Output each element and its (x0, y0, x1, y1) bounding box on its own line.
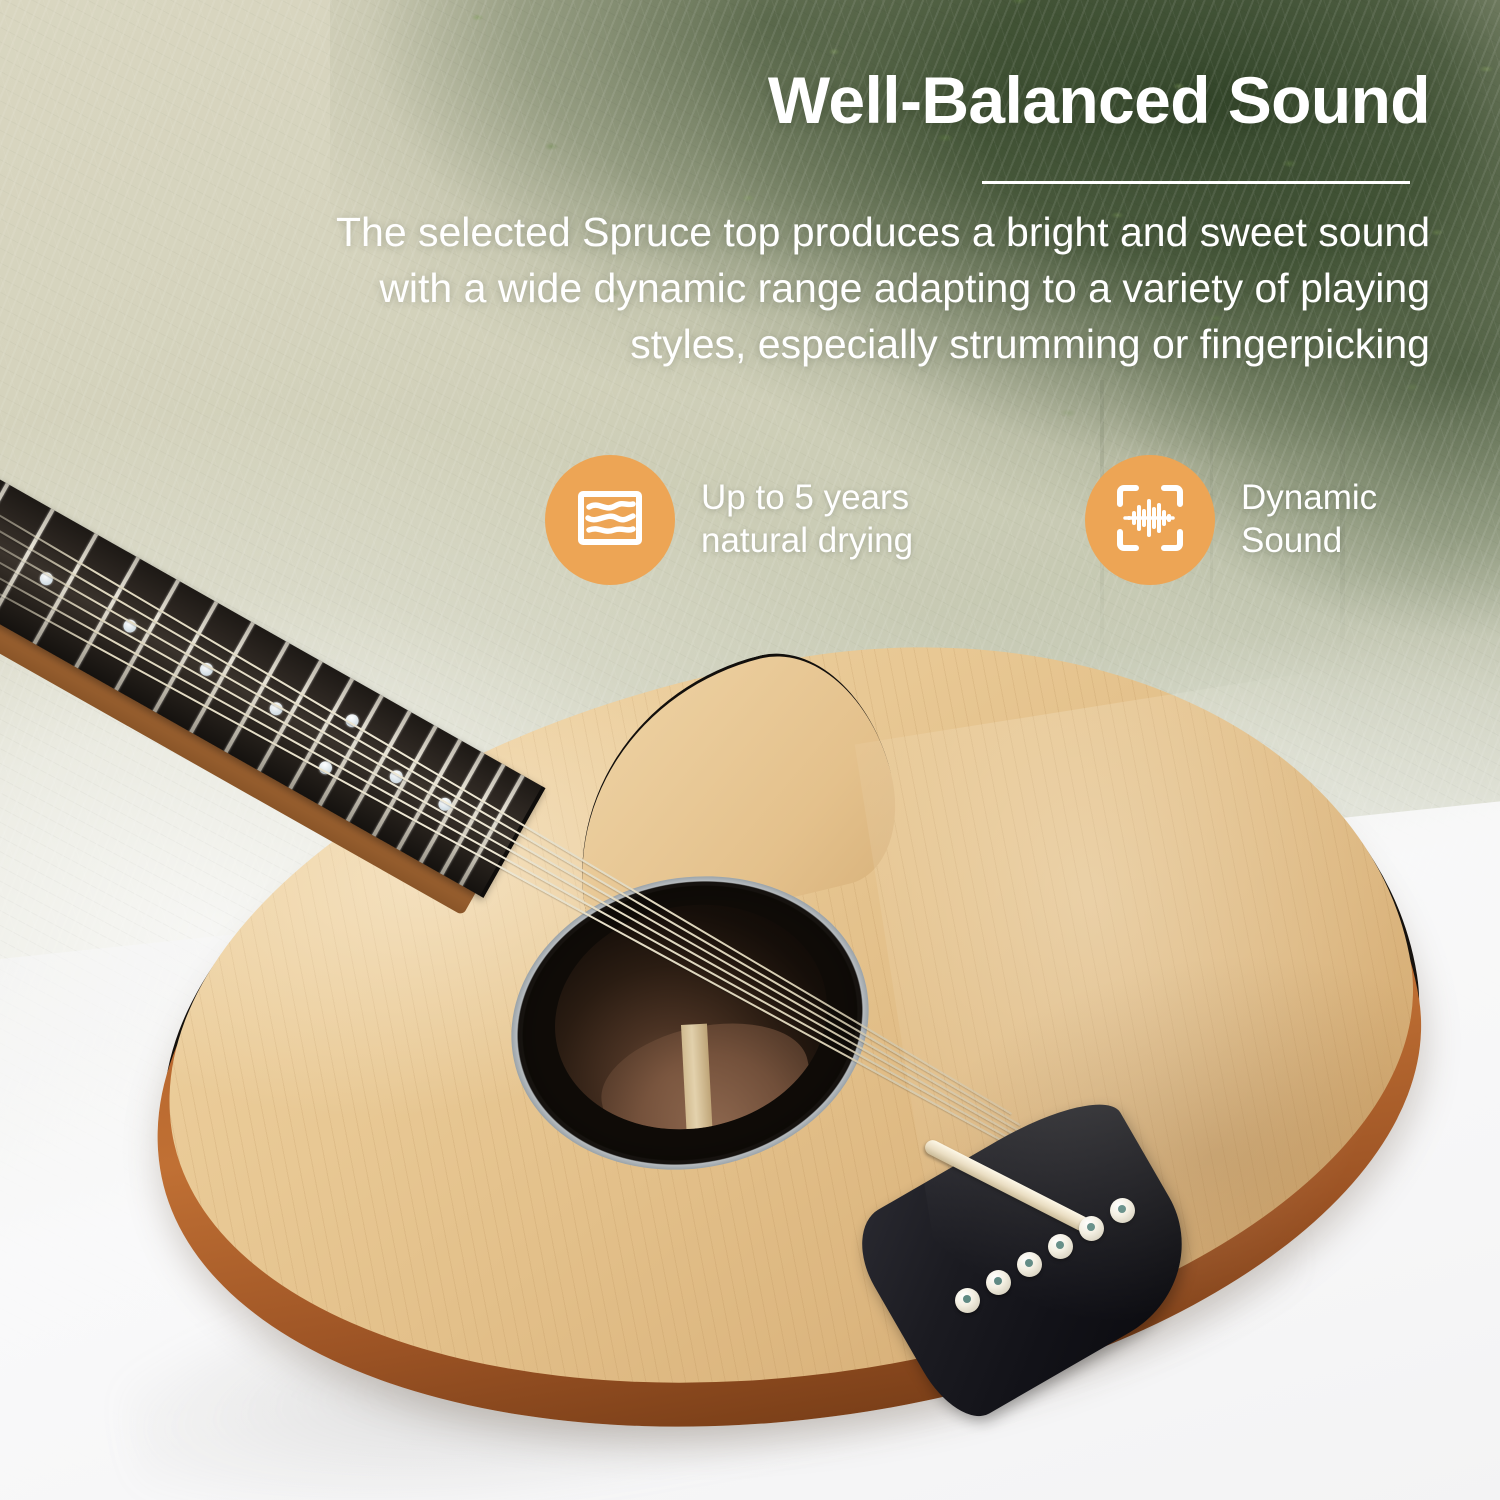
fret (418, 750, 485, 865)
bridge-pin (1110, 1198, 1135, 1223)
fret-marker-inlay (343, 712, 361, 730)
fret (32, 531, 99, 646)
bridge-pin (1017, 1252, 1042, 1277)
bridge-pin (1048, 1234, 1073, 1259)
fret-marker-inlay (121, 617, 139, 635)
product-feature-banner: Well-Balanced Sound The selected Spruce … (0, 0, 1500, 1500)
fret-marker-inlay (198, 661, 216, 679)
fret (0, 481, 10, 596)
fret (287, 676, 354, 791)
fret (371, 723, 438, 838)
fret-marker-inlay (317, 759, 335, 777)
fret (73, 555, 140, 670)
bridge-pin (955, 1288, 980, 1313)
bridge-pin (986, 1270, 1011, 1295)
bridge-pin (1079, 1216, 1104, 1241)
fret (395, 737, 462, 852)
fret-marker-inlay (38, 570, 56, 588)
fret (113, 578, 180, 693)
acoustic-guitar-image (0, 0, 1500, 1500)
fret-marker-inlay (267, 700, 285, 718)
fret (317, 693, 384, 808)
fret (0, 507, 56, 622)
